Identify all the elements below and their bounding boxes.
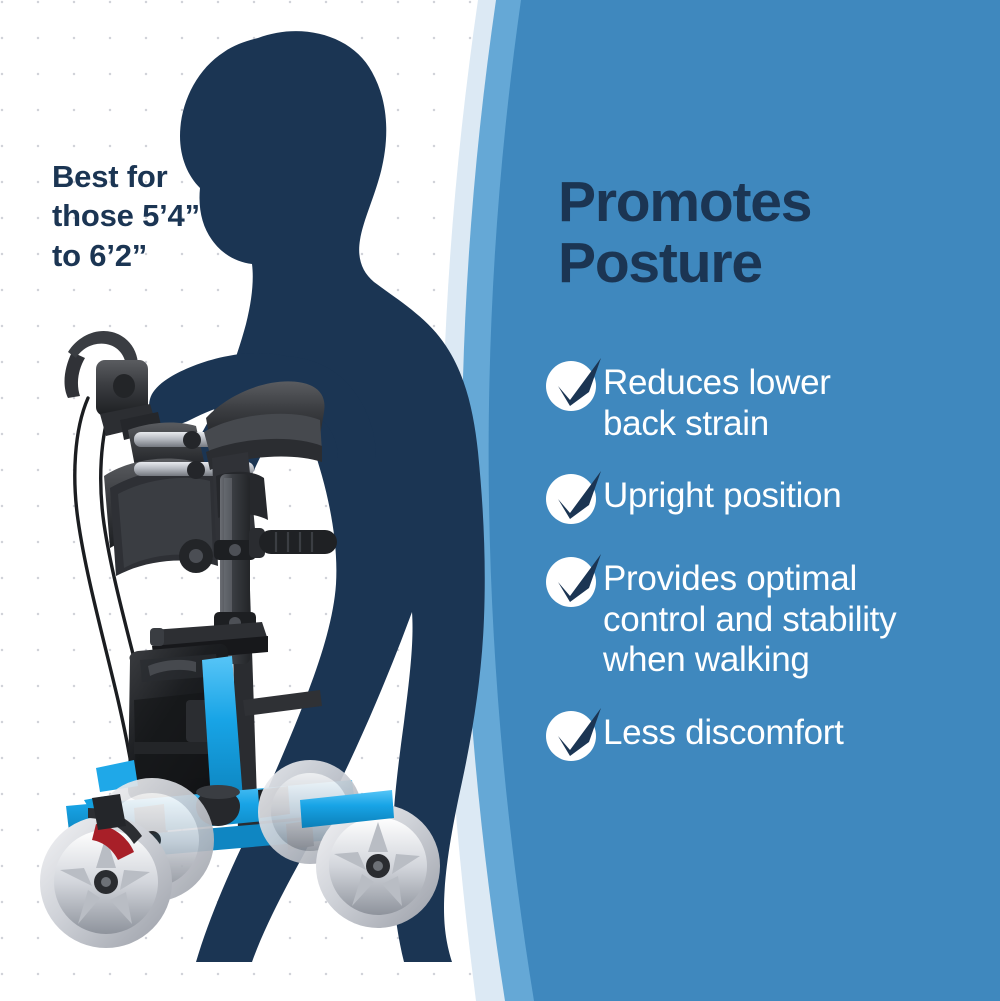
- page-title: Promotes Posture: [558, 172, 978, 294]
- forearm-trough-left: [110, 469, 218, 576]
- list-item: Upright position: [545, 475, 977, 527]
- height-range-caption: Best for those 5’4” to 6’2”: [52, 157, 252, 275]
- check-circle-icon: [545, 475, 603, 527]
- benefits-list: Reduces lower back strain Upright positi…: [545, 362, 977, 764]
- infographic-canvas: Best for those 5’4” to 6’2” Promotes Pos…: [0, 0, 1000, 1001]
- list-item-label: Upright position: [603, 475, 977, 517]
- hand-grip-right: [249, 528, 337, 558]
- list-item: Less discomfort: [545, 712, 977, 764]
- list-item-label: Less discomfort: [603, 712, 977, 754]
- list-item-label: Provides optimal control and stability w…: [603, 558, 977, 681]
- check-circle-icon: [545, 712, 603, 764]
- list-item-label: Reduces lower back strain: [603, 362, 977, 444]
- check-circle-icon: [545, 558, 603, 610]
- list-item: Reduces lower back strain: [545, 362, 977, 444]
- check-circle-icon: [545, 362, 603, 414]
- list-item: Provides optimal control and stability w…: [545, 558, 977, 681]
